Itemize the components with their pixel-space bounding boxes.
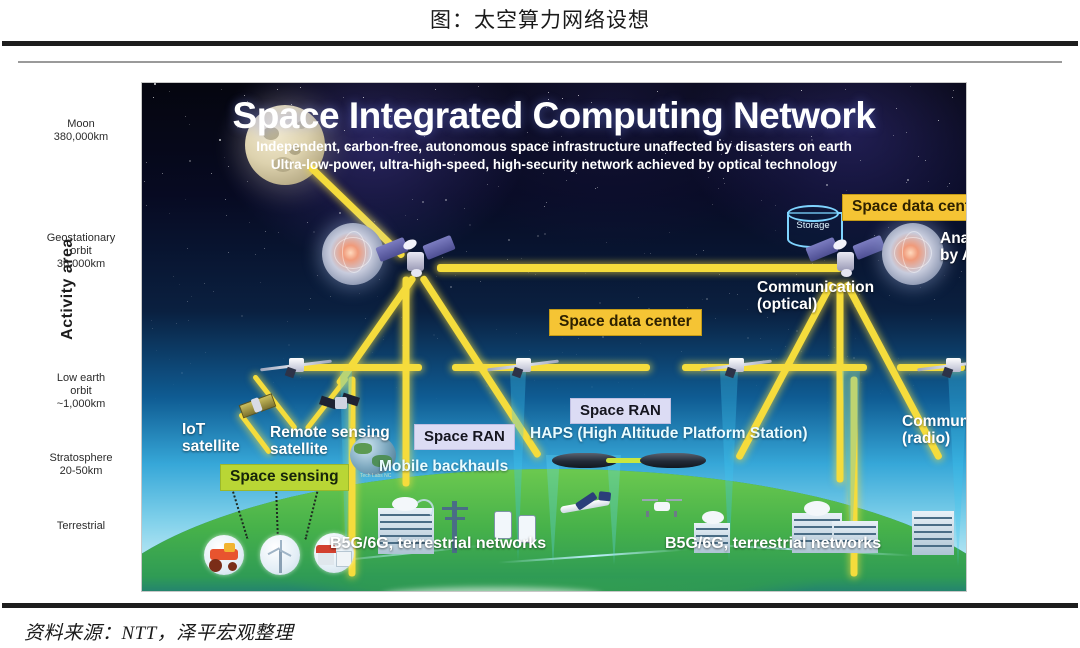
axis-label-terrestrial: Terrestrial bbox=[26, 520, 136, 533]
optical-beam bbox=[437, 264, 842, 272]
header-subrule bbox=[18, 61, 1062, 63]
diagram-subtitle-1: Independent, carbon-free, autonomous spa… bbox=[142, 139, 966, 154]
haps-airship-icon bbox=[640, 453, 706, 468]
ai-brain-icon-left bbox=[322, 223, 384, 285]
axis-label-low-earth-orbit: Low earth orbit ~1,000km bbox=[26, 372, 136, 411]
drone-icon bbox=[642, 495, 682, 517]
diagram-headline: Space Integrated Computing Network bbox=[142, 95, 966, 137]
axis-label-stratosphere: Stratosphere 20-50km bbox=[26, 452, 136, 478]
radio-cone bbox=[546, 455, 560, 565]
badge-space-sensing[interactable]: Space sensing bbox=[220, 464, 349, 491]
label-iot-satellite: IoT satellite bbox=[182, 421, 240, 455]
building-icon bbox=[912, 511, 954, 555]
page-title: 图：太空算力网络设想 bbox=[0, 4, 1080, 34]
leo-satellite bbox=[700, 351, 772, 381]
signal-wave-icon bbox=[414, 499, 434, 519]
label-mobile-backhauls: Mobile backhauls bbox=[379, 458, 508, 475]
label-haps: HAPS (High Altitude Platform Station) bbox=[530, 425, 808, 442]
label-terrestrial-networks-left: B5G/6G, terrestrial networks bbox=[330, 535, 546, 552]
badge-space-data-center-right[interactable]: Space data center bbox=[842, 194, 967, 221]
radome-icon bbox=[702, 511, 724, 524]
wind-turbine-icon bbox=[260, 535, 300, 575]
diagram-subtitle-2: Ultra-low-power, ultra-high-speed, high-… bbox=[142, 157, 966, 172]
axis-gradient-bar bbox=[92, 86, 122, 582]
footer-rule bbox=[2, 603, 1078, 608]
storage-label: Storage bbox=[787, 220, 839, 231]
geostationary-satellite-left bbox=[377, 238, 455, 284]
space-network-diagram: Space Integrated Computing Network Indep… bbox=[141, 82, 967, 592]
optical-beam bbox=[403, 277, 410, 487]
remote-sensing-satellite-icon bbox=[320, 391, 360, 417]
badge-space-data-center-center[interactable]: Space data center bbox=[549, 309, 702, 336]
axis-label-moon: Moon 380,000km bbox=[26, 118, 136, 144]
radome-icon bbox=[804, 501, 830, 516]
label-remote-sensing-satellite: Remote sensing satellite bbox=[270, 424, 390, 458]
figure-source: 资料来源：NTT，泽平宏观整理 bbox=[24, 618, 293, 645]
leo-satellite bbox=[487, 351, 559, 381]
badge-space-ran-left[interactable]: Space RAN bbox=[414, 424, 515, 450]
axis-label-geostationary-orbit: Geostationary orbit 36,000km bbox=[26, 232, 136, 271]
figure-page: 图：太空算力网络设想 Activity area Moon 380,000km … bbox=[0, 0, 1080, 648]
label-terrestrial-networks-right: B5G/6G, terrestrial networks bbox=[665, 535, 881, 552]
label-analysis-by-ai: Analysis by AI bbox=[940, 230, 967, 264]
label-communication-radio: Communication (radio) bbox=[902, 413, 967, 447]
tractor-icon bbox=[204, 535, 244, 575]
badge-space-ran-right[interactable]: Space RAN bbox=[570, 398, 671, 424]
geostationary-satellite-right bbox=[807, 238, 885, 284]
ai-brain-icon-right bbox=[882, 223, 944, 285]
activity-area-axis: Activity area Moon 380,000km Geostationa… bbox=[30, 82, 142, 590]
label-communication-optical: Communication (optical) bbox=[757, 279, 874, 313]
header-rule bbox=[2, 41, 1078, 46]
leo-satellite bbox=[917, 351, 967, 381]
leo-satellite bbox=[260, 351, 332, 381]
